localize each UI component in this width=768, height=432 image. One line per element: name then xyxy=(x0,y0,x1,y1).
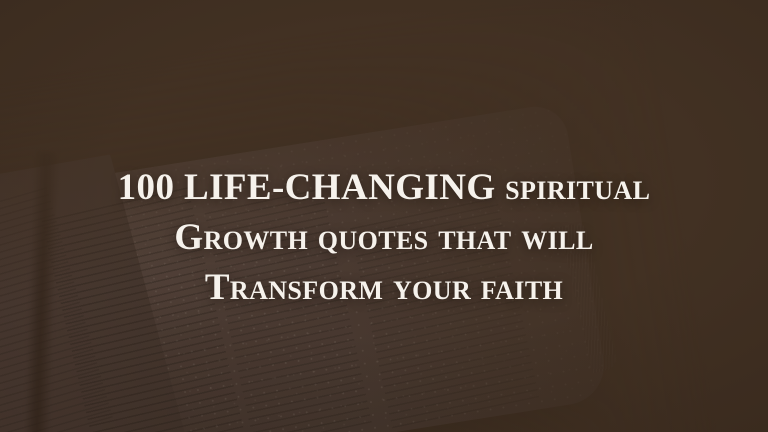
page-title-line-3: Transform Your Faith xyxy=(60,263,708,313)
page-title: 100 LIFE-CHANGING Spiritual Growth Quote… xyxy=(0,163,768,313)
page-title-emphasis: LIFE-CHANGING xyxy=(184,167,496,208)
page-title-line-1-rest: Spiritual xyxy=(505,167,650,208)
page-title-line-2: Growth Quotes That Will xyxy=(60,213,708,263)
page-title-count: 100 xyxy=(118,167,175,208)
page-title-line-1: 100 LIFE-CHANGING Spiritual xyxy=(60,163,708,213)
title-card: 100 LIFE-CHANGING Spiritual Growth Quote… xyxy=(0,0,768,432)
